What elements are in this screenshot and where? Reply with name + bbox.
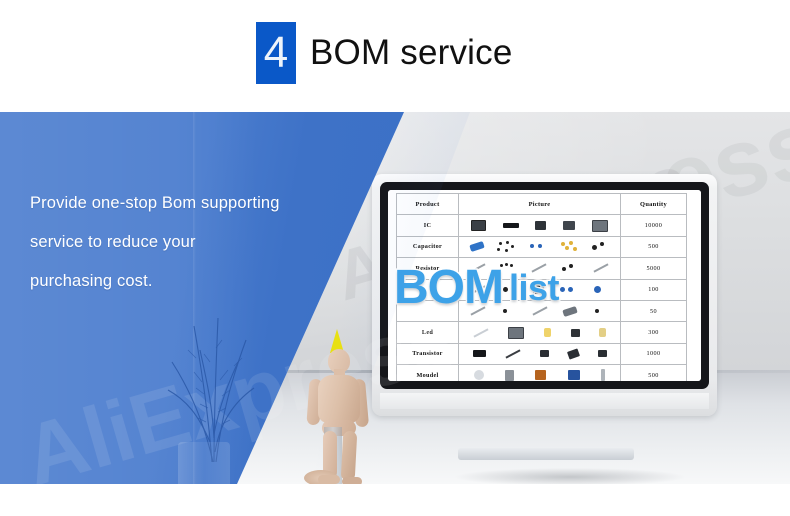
- page-title: BOM service: [310, 33, 513, 73]
- led-icon: [571, 329, 580, 337]
- ic-chip-icon: [592, 220, 608, 232]
- ic-chip-icon: [563, 221, 575, 230]
- cell-quantity: 100: [621, 279, 687, 300]
- cell-picture: [459, 343, 621, 364]
- module-icon: [568, 370, 580, 380]
- cell-picture: [459, 365, 621, 381]
- bom-table: Product Picture Quantity IC: [396, 193, 687, 381]
- mannequin-leg-right: [341, 431, 358, 482]
- cell-picture: [459, 258, 621, 279]
- component-icon: [591, 305, 609, 317]
- capacitor-icon: [591, 241, 609, 253]
- table-row: Transistor: [397, 343, 687, 364]
- led-icon: [508, 327, 524, 339]
- glass-vase: [178, 442, 230, 484]
- table-row: 100: [397, 279, 687, 300]
- mannequin-foot-left: [318, 475, 340, 484]
- cell-quantity: 300: [621, 322, 687, 343]
- hero-copy-block: Provide one-stop Bom supporting service …: [30, 194, 350, 311]
- slide-root: 4 BOM service ess AliExpress: [0, 0, 790, 516]
- transistor-icon: [540, 350, 549, 357]
- monitor-stand-neck: [490, 416, 598, 452]
- resistor-icon: [561, 262, 579, 274]
- component-icon: [591, 284, 609, 296]
- component-icon: [562, 306, 577, 317]
- transistor-icon: [598, 350, 607, 357]
- component-icon: [501, 284, 519, 296]
- transistor-icon: [566, 348, 579, 359]
- hero-copy-line-3: purchasing cost.: [30, 272, 350, 291]
- cell-picture: [459, 300, 621, 321]
- table-row: Resistor: [397, 258, 687, 279]
- cell-picture: [459, 279, 621, 300]
- wooden-mannequin: [298, 327, 382, 484]
- module-icon: [474, 370, 484, 380]
- resistor-icon: [594, 264, 609, 273]
- header-bar: 4 BOM service: [0, 0, 790, 112]
- component-icon: [558, 284, 576, 296]
- capacitor-icon: [469, 241, 484, 252]
- capacitor-icon: [497, 241, 515, 253]
- table-row: 50: [397, 300, 687, 321]
- hero-photo: ess AliExpress Product Picture: [0, 112, 790, 484]
- table-header-row: Product Picture Quantity: [397, 194, 687, 215]
- col-header-quantity: Quantity: [621, 194, 687, 215]
- module-icon: [505, 370, 514, 381]
- bom-sheet-inner: Product Picture Quantity IC: [396, 193, 686, 378]
- section-number-badge: 4: [256, 22, 296, 84]
- table-row: Led: [397, 322, 687, 343]
- cell-product: Led: [397, 322, 459, 343]
- monitor-shadow: [405, 464, 735, 484]
- cell-product: Moudel: [397, 365, 459, 381]
- cell-picture: [459, 215, 621, 236]
- cell-quantity: 1000: [621, 343, 687, 364]
- cell-quantity: 500: [621, 365, 687, 381]
- bom-sheet: Product Picture Quantity IC: [388, 190, 701, 381]
- transistor-icon: [505, 349, 520, 358]
- footer-spacer: [0, 484, 790, 516]
- monitor-stand-base: [458, 448, 634, 460]
- monitor-chin: [380, 393, 709, 409]
- table-row: Capacitor: [397, 236, 687, 257]
- component-icon: [533, 285, 544, 294]
- table-row: Moudel: [397, 365, 687, 381]
- resistor-icon: [532, 264, 547, 273]
- header-content: 4 BOM service: [256, 22, 513, 84]
- component-icon: [533, 307, 548, 316]
- hero-copy-line-2: service to reduce your: [30, 233, 350, 252]
- mannequin-foot-right: [342, 477, 362, 484]
- ic-chip-icon: [471, 220, 486, 231]
- cell-quantity: 5000: [621, 258, 687, 279]
- ic-chip-icon: [535, 221, 546, 230]
- col-header-picture: Picture: [459, 194, 621, 215]
- cell-picture: [459, 322, 621, 343]
- capacitor-icon: [560, 241, 578, 253]
- module-icon: [601, 369, 605, 381]
- cell-quantity: 500: [621, 236, 687, 257]
- resistor-icon: [500, 262, 518, 274]
- cell-quantity: 10000: [621, 215, 687, 236]
- component-icon: [471, 285, 486, 294]
- component-icon: [471, 307, 486, 316]
- led-icon: [544, 328, 551, 337]
- resistor-icon: [470, 264, 485, 273]
- cell-quantity: 50: [621, 300, 687, 321]
- cell-picture: [459, 236, 621, 257]
- led-icon: [599, 328, 606, 337]
- module-icon: [535, 370, 546, 380]
- led-icon: [473, 328, 488, 337]
- cell-product: [397, 300, 459, 321]
- mannequin-torso: [318, 375, 360, 423]
- hero-copy-line-1: Provide one-stop Bom supporting: [30, 194, 350, 213]
- ic-chip-icon: [503, 223, 519, 228]
- component-icon: [500, 305, 518, 317]
- table-row: IC: [397, 215, 687, 236]
- capacitor-icon: [528, 241, 546, 253]
- transistor-icon: [473, 350, 486, 357]
- monitor-screen[interactable]: Product Picture Quantity IC: [388, 190, 701, 381]
- cell-product: Transistor: [397, 343, 459, 364]
